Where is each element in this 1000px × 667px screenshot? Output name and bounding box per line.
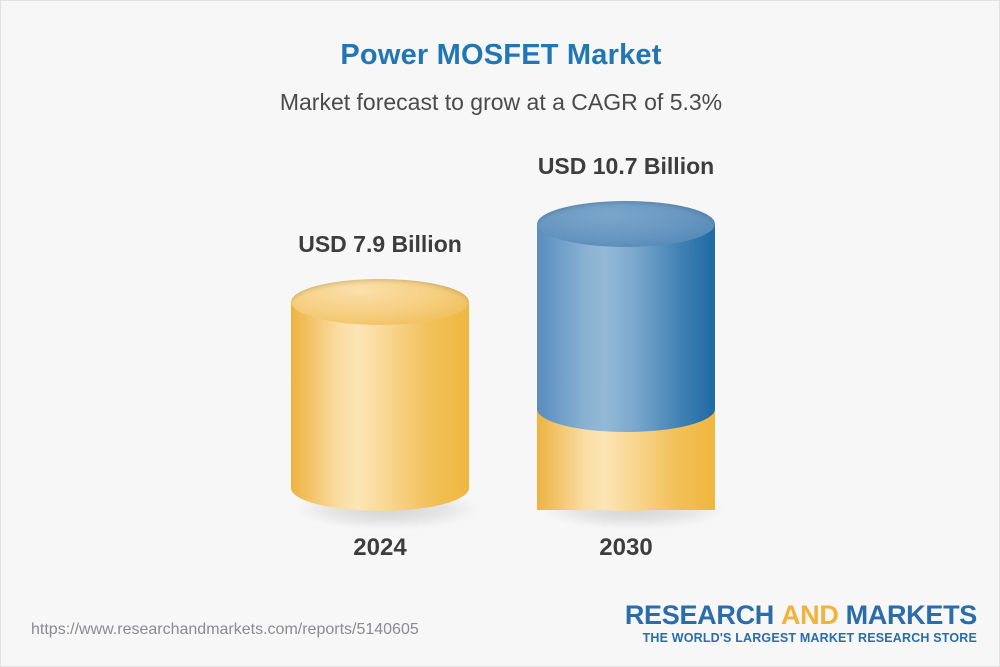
bar-2030-growth-body [537,224,715,409]
bar-2024-base-foot [291,465,469,511]
bar-category-label-2030: 2030 [447,534,805,562]
brand-logo[interactable]: RESEARCHANDMARKETS THE WORLD'S LARGEST M… [625,601,977,645]
brand-logo-word-research: RESEARCH [625,600,774,630]
bar-value-label-2030: USD 10.7 Billion [447,153,805,180]
brand-logo-word-and: AND [781,600,839,630]
bar-value-label-2024: USD 7.9 Billion [201,231,559,258]
brand-logo-wordmark: RESEARCHANDMARKETS [625,601,977,629]
page-subtitle: Market forecast to grow at a CAGR of 5.3… [1,89,1000,116]
bar-2030-base-foot [537,465,715,511]
brand-logo-tagline: THE WORLD'S LARGEST MARKET RESEARCH STOR… [625,631,977,645]
bar-cylinder-2030[interactable] [537,201,715,511]
brand-logo-word-markets: MARKETS [846,600,977,630]
source-url[interactable]: https://www.researchandmarkets.com/repor… [31,621,419,639]
bar-2030-growth-foot [537,386,715,432]
bar-2030-top-cap [537,201,715,247]
page-title: Power MOSFET Market [1,39,1000,72]
chart-plot-area: USD 7.9 Billion 2024 USD 10.7 Billion 20… [1,131,1000,581]
bar-2024-top-cap [291,279,469,325]
bar-cylinder-2024[interactable] [291,279,469,511]
infographic-canvas: Power MOSFET Market Market forecast to g… [0,0,1000,667]
bar-2024-base-body [291,302,469,488]
